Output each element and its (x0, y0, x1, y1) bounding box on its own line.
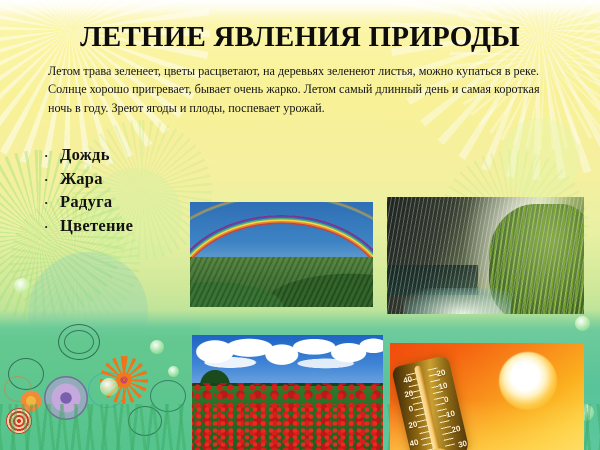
light-bubble-icon (168, 366, 179, 377)
bullet-mark-icon: · (44, 169, 60, 192)
list-item: · Радуга (44, 191, 133, 215)
poppy-blooms-near (192, 404, 383, 450)
list-item-label: Жара (60, 168, 103, 191)
list-item-label: Цветение (60, 215, 133, 238)
thermometer-scale-value: 40 (408, 438, 419, 449)
bullet-mark-icon: · (44, 192, 60, 215)
thermometer-scale-value: 10 (437, 381, 448, 392)
poppy-field-photo (192, 335, 383, 450)
list-item: · Цветение (44, 215, 133, 239)
phenomena-list: · Дождь · Жара · Радуга · Цветение (44, 144, 133, 238)
thermometer-scale-value: 30 (457, 439, 468, 450)
light-bubble-icon (14, 278, 30, 294)
thermometer-scale-value: 20 (450, 424, 461, 435)
bullet-mark-icon: · (44, 145, 60, 168)
list-item-label: Радуга (60, 191, 112, 214)
thermometer-scale-value: 20 (435, 368, 446, 379)
light-bubble-icon (575, 316, 590, 331)
slide-canvas: ЛЕТНИЕ ЯВЛЕНИЯ ПРИРОДЫ Летом трава зелен… (0, 0, 600, 450)
light-bubble-icon (100, 378, 118, 396)
rainbow-photo (190, 202, 373, 307)
thermometer-scale-value: 20 (407, 420, 418, 431)
rainbow-foliage-texture (190, 257, 373, 307)
top-haze-strip (0, 0, 600, 16)
rain-photo (387, 197, 584, 314)
list-item: · Жара (44, 168, 133, 192)
light-bubble-icon (150, 340, 164, 354)
decorative-blob (500, 118, 580, 198)
heat-thermometer-photo: 40 20 0 20 40 30 20 10 0 10 20 (390, 343, 584, 450)
list-item-label: Дождь (60, 144, 110, 167)
page-title: ЛЕТНИЕ ЯВЛЕНИЯ ПРИРОДЫ (0, 21, 600, 54)
body-paragraph: Летом трава зеленеет, цветы расцветают, … (48, 62, 556, 117)
list-item: · Дождь (44, 144, 133, 168)
rain-streaks (387, 197, 584, 314)
sun-icon (499, 352, 557, 410)
bullet-mark-icon: · (44, 216, 60, 239)
thermometer-scale-value: 10 (445, 409, 456, 420)
